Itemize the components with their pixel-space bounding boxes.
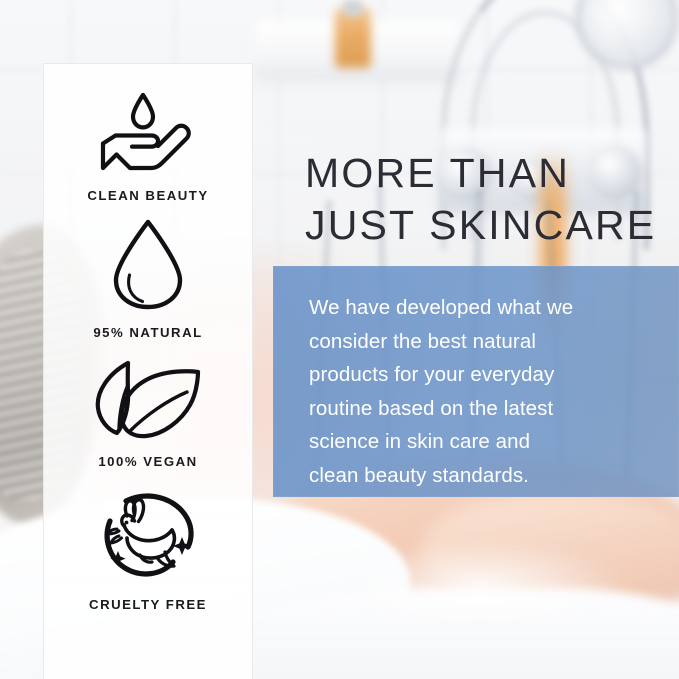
leaves-icon (88, 358, 208, 445)
hand-with-droplet-icon (96, 89, 200, 179)
badge-label: 95% NATURAL (93, 325, 202, 340)
callout-box: We have developed what we consider the b… (273, 266, 679, 497)
callout-line: We have developed what we (309, 291, 649, 325)
badge-clean-beauty: CLEAN BEAUTY (44, 89, 252, 203)
badge-cruelty-free: CRUELTY FREE (44, 489, 252, 612)
badge-label: 100% VEGAN (98, 454, 197, 469)
headline-line-1: MORE THAN (305, 148, 679, 200)
badge-label: CRUELTY FREE (89, 597, 207, 612)
rabbit-cruelty-free-icon (96, 489, 200, 588)
callout-line: consider the best natural (309, 325, 649, 359)
page-title: MORE THAN JUST SKINCARE (305, 148, 679, 251)
water-droplet-icon (106, 217, 190, 316)
callout-line: science in skin care and (309, 425, 649, 459)
marketing-banner: CLEAN BEAUTY 95% NATURAL 100% VEGAN (0, 0, 679, 679)
badge-vegan: 100% VEGAN (44, 358, 252, 469)
callout-text: We have developed what we consider the b… (309, 291, 649, 493)
badge-natural: 95% NATURAL (44, 217, 252, 340)
certification-panel: CLEAN BEAUTY 95% NATURAL 100% VEGAN (43, 63, 253, 679)
callout-line: clean beauty standards. (309, 459, 649, 493)
callout-line: products for your everyday (309, 358, 649, 392)
badge-label: CLEAN BEAUTY (87, 188, 208, 203)
headline-line-2: JUST SKINCARE (305, 200, 679, 252)
callout-line: routine based on the latest (309, 392, 649, 426)
